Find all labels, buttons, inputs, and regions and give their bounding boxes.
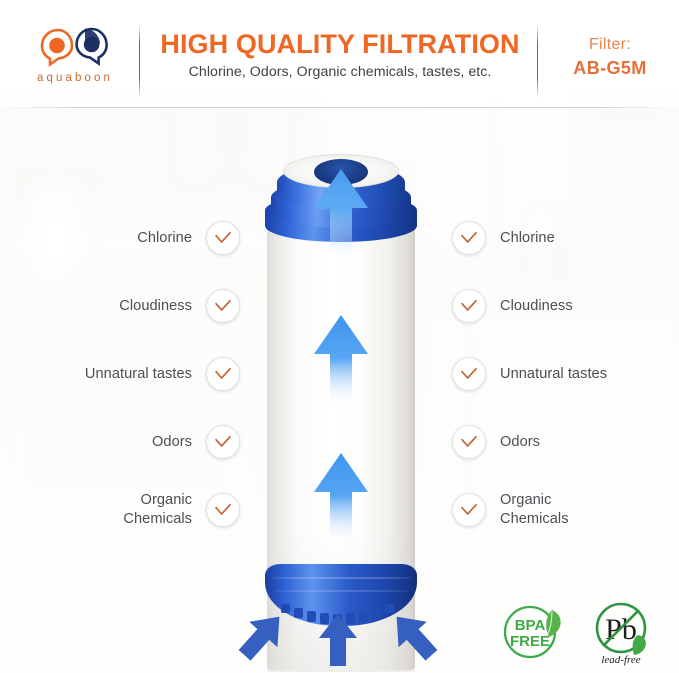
header-divider-right [537, 24, 538, 98]
water-filter-cartridge [255, 132, 425, 652]
check-badge [206, 357, 240, 391]
benefit-label: Odors [152, 433, 192, 452]
lead-free-caption: lead-free [601, 654, 640, 666]
bottom-cap-highlight-1 [271, 577, 411, 579]
header-banner: aquaboon HIGH QUALITY FILTRATION Chlorin… [0, 0, 679, 108]
check-badge [206, 493, 240, 527]
bpa-free-icon: BPA FREE [496, 597, 572, 667]
check-icon [460, 231, 478, 245]
bottom-cap-highlight-2 [273, 590, 409, 592]
check-icon [460, 435, 478, 449]
flow-arrow-icon-top [310, 166, 372, 258]
benefit-label: Odors [500, 433, 540, 452]
benefit-item-unnatural-tastes-right: Unnatural tastes [452, 340, 679, 408]
check-badge [452, 289, 486, 323]
filter-label: Filter: [545, 36, 675, 54]
check-badge [206, 289, 240, 323]
flow-arrow-icon-bottom [310, 450, 372, 542]
header-divider-left [139, 24, 140, 98]
lead-free-badge: Pb lead-free [586, 597, 662, 667]
bpa-line1: BPA [515, 617, 546, 634]
inlet-arrow-icon-center [316, 612, 360, 668]
check-icon [460, 299, 478, 313]
benefit-item-chlorine-right: Chlorine [452, 204, 679, 272]
benefit-label: Chlorine [500, 229, 555, 248]
filter-model-value: AB-G5M [545, 58, 675, 79]
benefit-item-chlorine-left: Chlorine [8, 204, 240, 272]
lead-free-icon: Pb lead-free [586, 597, 662, 667]
check-icon [214, 367, 232, 381]
check-icon [214, 503, 232, 517]
aquaboon-logo-icon [38, 27, 112, 67]
benefit-label: Cloudiness [500, 297, 573, 316]
bpa-line2: FREE [510, 633, 550, 650]
brand-logo: aquaboon [16, 22, 134, 88]
check-badge [452, 493, 486, 527]
benefits-column-right: Chlorine Cloudiness Unnatural tastes [452, 204, 679, 544]
benefit-label: Cloudiness [119, 297, 192, 316]
product-infographic: aquaboon HIGH QUALITY FILTRATION Chlorin… [0, 0, 679, 673]
benefit-item-odors-left: Odors [8, 408, 240, 476]
benefit-label: Organic Chemicals [123, 491, 192, 528]
benefit-item-organic-chemicals-left: Organic Chemicals [8, 476, 240, 544]
page-title: HIGH QUALITY FILTRATION [150, 30, 530, 58]
page-subtitle: Chlorine, Odors, Organic chemicals, tast… [150, 64, 530, 80]
check-badge [206, 425, 240, 459]
benefit-item-organic-chemicals-right: Organic Chemicals [452, 476, 679, 544]
benefit-item-unnatural-tastes-left: Unnatural tastes [8, 340, 240, 408]
benefit-label: Organic Chemicals [500, 491, 569, 528]
benefit-item-odors-right: Odors [452, 408, 679, 476]
benefits-column-left: Chlorine Cloudiness Unnatural tastes [8, 204, 240, 544]
certification-badges: BPA FREE Pb lead-free [496, 596, 672, 668]
check-icon [214, 231, 232, 245]
benefit-label: Unnatural tastes [85, 365, 192, 384]
check-icon [460, 503, 478, 517]
header-headline-group: HIGH QUALITY FILTRATION Chlorine, Odors,… [150, 30, 530, 80]
benefit-label: Unnatural tastes [500, 365, 607, 384]
flow-arrow-icon-middle [310, 312, 372, 404]
benefit-item-cloudiness-right: Cloudiness [452, 272, 679, 340]
check-badge [452, 425, 486, 459]
brand-wordmark: aquaboon [37, 72, 113, 84]
check-icon [460, 367, 478, 381]
filter-model-group: Filter: AB-G5M [545, 36, 675, 79]
check-icon [214, 435, 232, 449]
check-icon [214, 299, 232, 313]
header-bottom-rule [0, 107, 679, 108]
check-badge [206, 221, 240, 255]
check-badge [452, 221, 486, 255]
bpa-free-badge: BPA FREE [496, 597, 572, 667]
benefit-label: Chlorine [137, 229, 192, 248]
check-badge [452, 357, 486, 391]
benefit-item-cloudiness-left: Cloudiness [8, 272, 240, 340]
